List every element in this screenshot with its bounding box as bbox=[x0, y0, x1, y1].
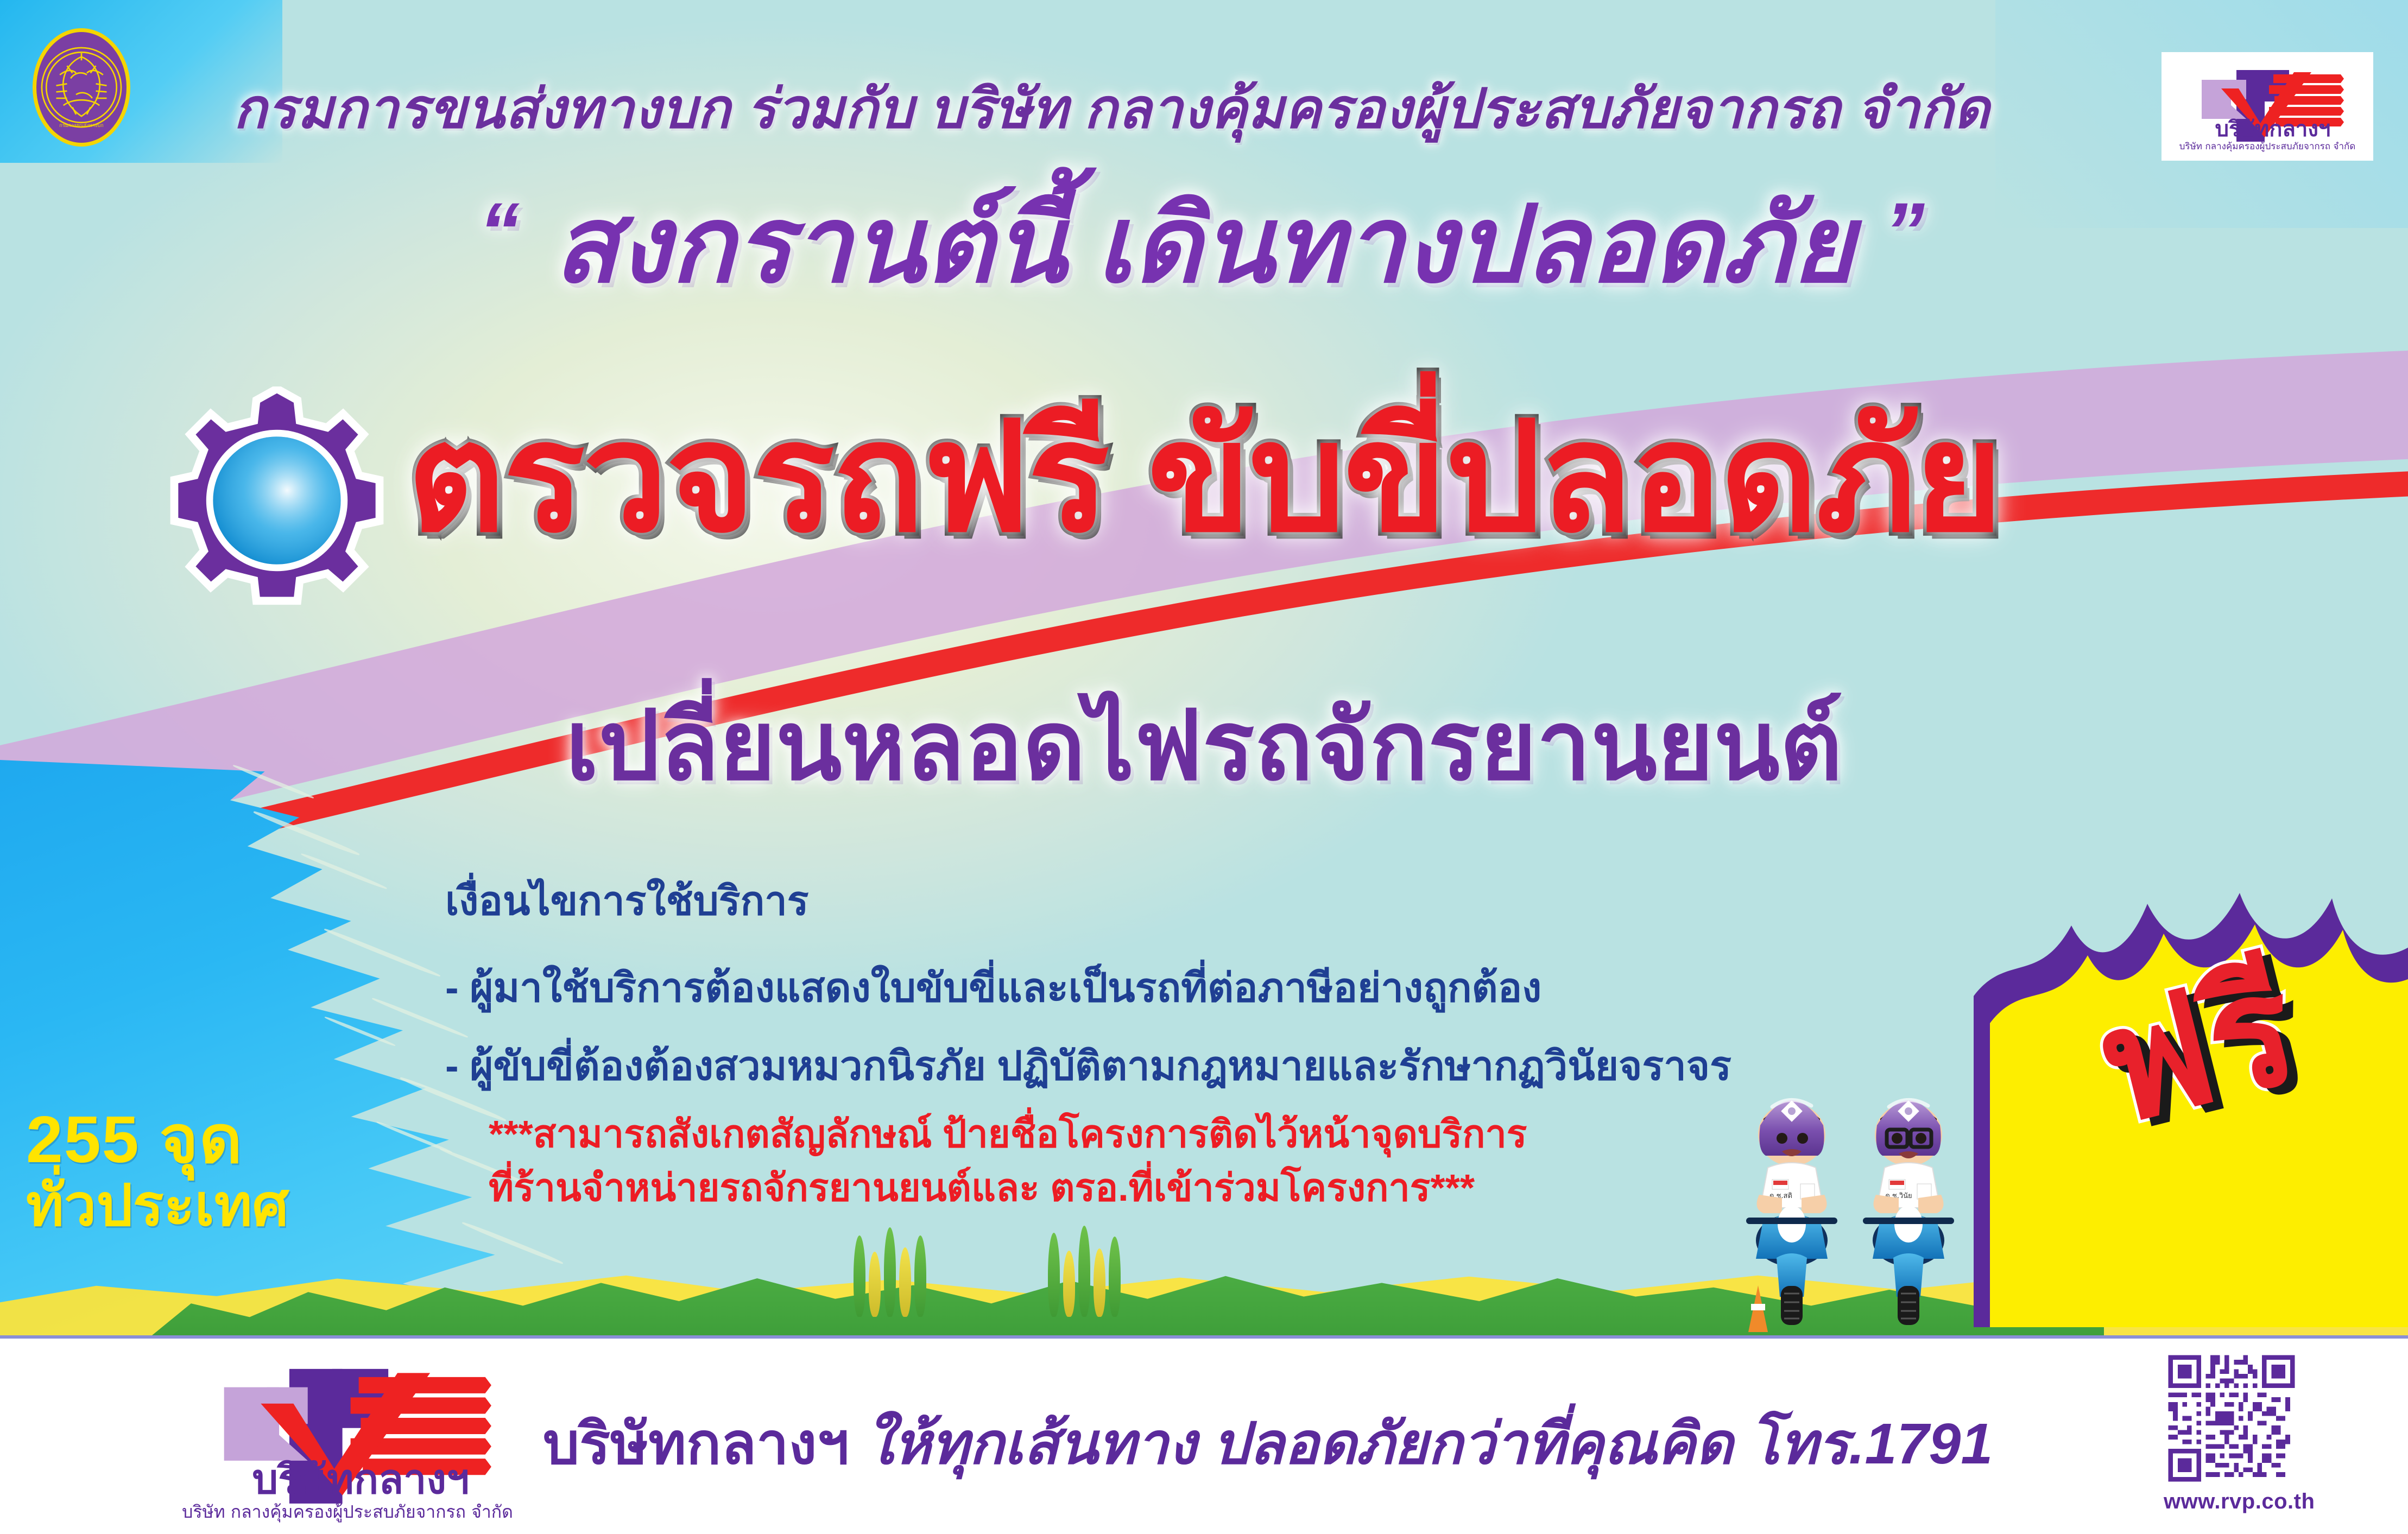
tree-icon bbox=[914, 1235, 926, 1317]
rvp-logo-footer: บริษัทกลางฯ บริษัท กลางคุ้มครองผู้ประสบภ… bbox=[179, 1351, 516, 1524]
qr-code-icon[interactable] bbox=[2164, 1351, 2299, 1486]
quote-open-mark: “ bbox=[479, 186, 524, 277]
tree-icon bbox=[884, 1227, 896, 1317]
tree-icon bbox=[869, 1252, 881, 1317]
footer-slogan: ให้ทุกเส้นทาง ปลอดภัยกว่าที่คุณคิด bbox=[865, 1412, 1733, 1476]
note-block: ***สามารถสังเกตสัญลักษณ์ ป้ายชื่อโครงการ… bbox=[489, 1107, 1846, 1215]
svg-text:บริษัทกลางฯ: บริษัทกลางฯ bbox=[252, 1455, 470, 1503]
conditions-title: เงื่อนไขการใช้บริการ bbox=[445, 869, 2047, 933]
free-starburst-badge: ฟรี bbox=[1957, 860, 2408, 1327]
main-headline: ตรวจรถฟรี ขับขี่ปลอดภัย bbox=[0, 402, 2408, 554]
slogan-headline: “ สงกรานต์นี้ เดินทางปลอดภัย ” bbox=[0, 189, 2408, 301]
banner-root: กรมการขนส่งทางบก กรมการขนส่งทางบก ร่วมกั… bbox=[0, 0, 2408, 1534]
footer-phone: โทร.1791 bbox=[1749, 1412, 1993, 1476]
sub-headline: เปลี่ยนหลอดไฟรถจักรยานยนต์ bbox=[0, 698, 2408, 794]
footer-tagline: บริษัทกลางฯ ให้ทุกเส้นทาง ปลอดภัยกว่าที่… bbox=[543, 1397, 1993, 1489]
tree-icon bbox=[1063, 1251, 1075, 1317]
note-line: ที่ร้านจำหน่ายรถจักรยานยนต์และ ตรอ.ที่เข… bbox=[489, 1161, 1846, 1215]
service-points-count: 255 จุด bbox=[26, 1105, 384, 1175]
svg-text:บริษัทกลางฯ: บริษัทกลางฯ bbox=[2215, 117, 2331, 142]
svg-text:บริษัท กลางคุ้มครองผู้ประสบภัย: บริษัท กลางคุ้มครองผู้ประสบภัยจากรถ จำกั… bbox=[2179, 141, 2356, 152]
qr-code-block[interactable]: www.rvp.co.th bbox=[2164, 1351, 2299, 1514]
tree-icon bbox=[854, 1235, 865, 1317]
tree-icon bbox=[1078, 1226, 1090, 1317]
note-line: ***สามารถสังเกตสัญลักษณ์ ป้ายชื่อโครงการ… bbox=[489, 1107, 1846, 1161]
website-url[interactable]: www.rvp.co.th bbox=[2164, 1489, 2299, 1514]
svg-text:กรมการขนส่งทางบก: กรมการขนส่งทางบก bbox=[59, 123, 103, 129]
footer-bar: บริษัทกลางฯ บริษัท กลางคุ้มครองผู้ประสบภ… bbox=[0, 1335, 2408, 1534]
quote-close-mark: ” bbox=[1884, 186, 1929, 277]
slogan-text: สงกรานต์นี้ เดินทางปลอดภัย bbox=[554, 185, 1855, 304]
dept-of-land-transport-seal: กรมการขนส่งทางบก bbox=[33, 28, 130, 147]
tree-icon bbox=[1109, 1237, 1121, 1317]
condition-item: - ผู้มาใช้บริการต้องแสดงใบขับขี่และเป็นร… bbox=[445, 955, 2047, 1019]
tree-icon bbox=[1094, 1248, 1105, 1317]
svg-text:บริษัท กลางคุ้มครองผู้ประสบภัย: บริษัท กลางคุ้มครองผู้ประสบภัยจากรถ จำกั… bbox=[182, 1501, 513, 1523]
service-points-block: 255 จุด ทั่วประเทศ bbox=[26, 1105, 384, 1237]
service-points-scope: ทั่วประเทศ bbox=[26, 1175, 384, 1237]
tree-icon bbox=[899, 1247, 911, 1317]
tree-icon bbox=[1048, 1233, 1060, 1317]
rvp-logo-header: บริษัทกลางฯ บริษัท กลางคุ้มครองผู้ประสบภ… bbox=[2161, 52, 2373, 161]
footer-brand: บริษัทกลางฯ bbox=[543, 1412, 849, 1476]
department-title: กรมการขนส่งทางบก ร่วมกับ บริษัท กลางคุ้ม… bbox=[233, 65, 2058, 152]
